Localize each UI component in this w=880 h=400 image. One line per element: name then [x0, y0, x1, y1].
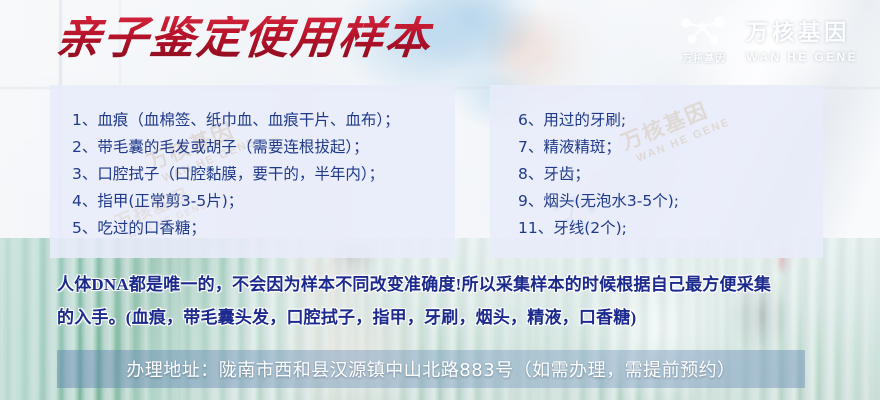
address-text: 办理地址：陇南市西和县汉源镇中山北路883号（如需办理，需提前预约） [126, 356, 735, 382]
address-bar: 办理地址：陇南市西和县汉源镇中山北路883号（如需办理，需提前预约） [57, 350, 805, 388]
sample-list-left: 1、血痕（血棉签、纸巾血、血痕干片、血布）； 2、带毛囊的毛发或胡子（需要连根拔… [50, 85, 455, 242]
list-item: 4、指甲(正常剪3-5片)； [72, 188, 455, 215]
poster-canvas: 亲子鉴定使用样本 [0, 0, 880, 400]
paragraph-line: 人体DNA都是唯一的，不会因为样本不同改变准确度!所以采集样本的时候根据自己最方… [57, 268, 832, 301]
logo-mark: 万核基因 [676, 14, 732, 65]
list-item: 7、精液精斑； [518, 134, 823, 161]
list-item: 5、吃过的口香糖； [72, 215, 455, 242]
sample-list-right: 6、用过的牙刷; 7、精液精斑； 8、牙齿； 9、烟头(无泡水3-5个); 11… [490, 85, 823, 242]
logo-brand-cn: 万核基因 [746, 15, 858, 47]
sample-list-panel-right: 万核基因 WAN HE GENE 6、 [490, 85, 823, 258]
list-item: 2、带毛囊的毛发或胡子（需要连根拔起）； [72, 134, 455, 161]
brand-logo: 万核基因 万核基因 WAN HE GENE [676, 14, 858, 65]
list-item: 3、口腔拭子（口腔黏膜，要干的，半年内）； [72, 161, 455, 188]
list-item: 9、烟头(无泡水3-5个); [518, 188, 823, 215]
paragraph-line: 的入手。(血痕，带毛囊头发，口腔拭子，指甲，牙刷，烟头，精液，口香糖) [57, 301, 832, 334]
logo-brand-en: WAN HE GENE [746, 50, 858, 64]
logo-wordmark: 万核基因 WAN HE GENE [746, 15, 858, 64]
list-item: 11、牙线(2个); [518, 215, 823, 242]
list-item: 1、血痕（血棉签、纸巾血、血痕干片、血布）； [72, 107, 455, 134]
description-paragraph: 人体DNA都是唯一的，不会因为样本不同改变准确度!所以采集样本的时候根据自己最方… [57, 268, 832, 334]
molecule-icon [676, 14, 732, 48]
page-title: 亲子鉴定使用样本 [54, 16, 435, 61]
list-item: 8、牙齿； [518, 161, 823, 188]
logo-mark-caption: 万核基因 [682, 50, 726, 65]
list-item: 6、用过的牙刷; [518, 107, 823, 134]
sample-list-panel-left: 万核基因 WAN HE GENE 万核基因 WAN HE GENE 1、血痕（血… [50, 85, 455, 258]
